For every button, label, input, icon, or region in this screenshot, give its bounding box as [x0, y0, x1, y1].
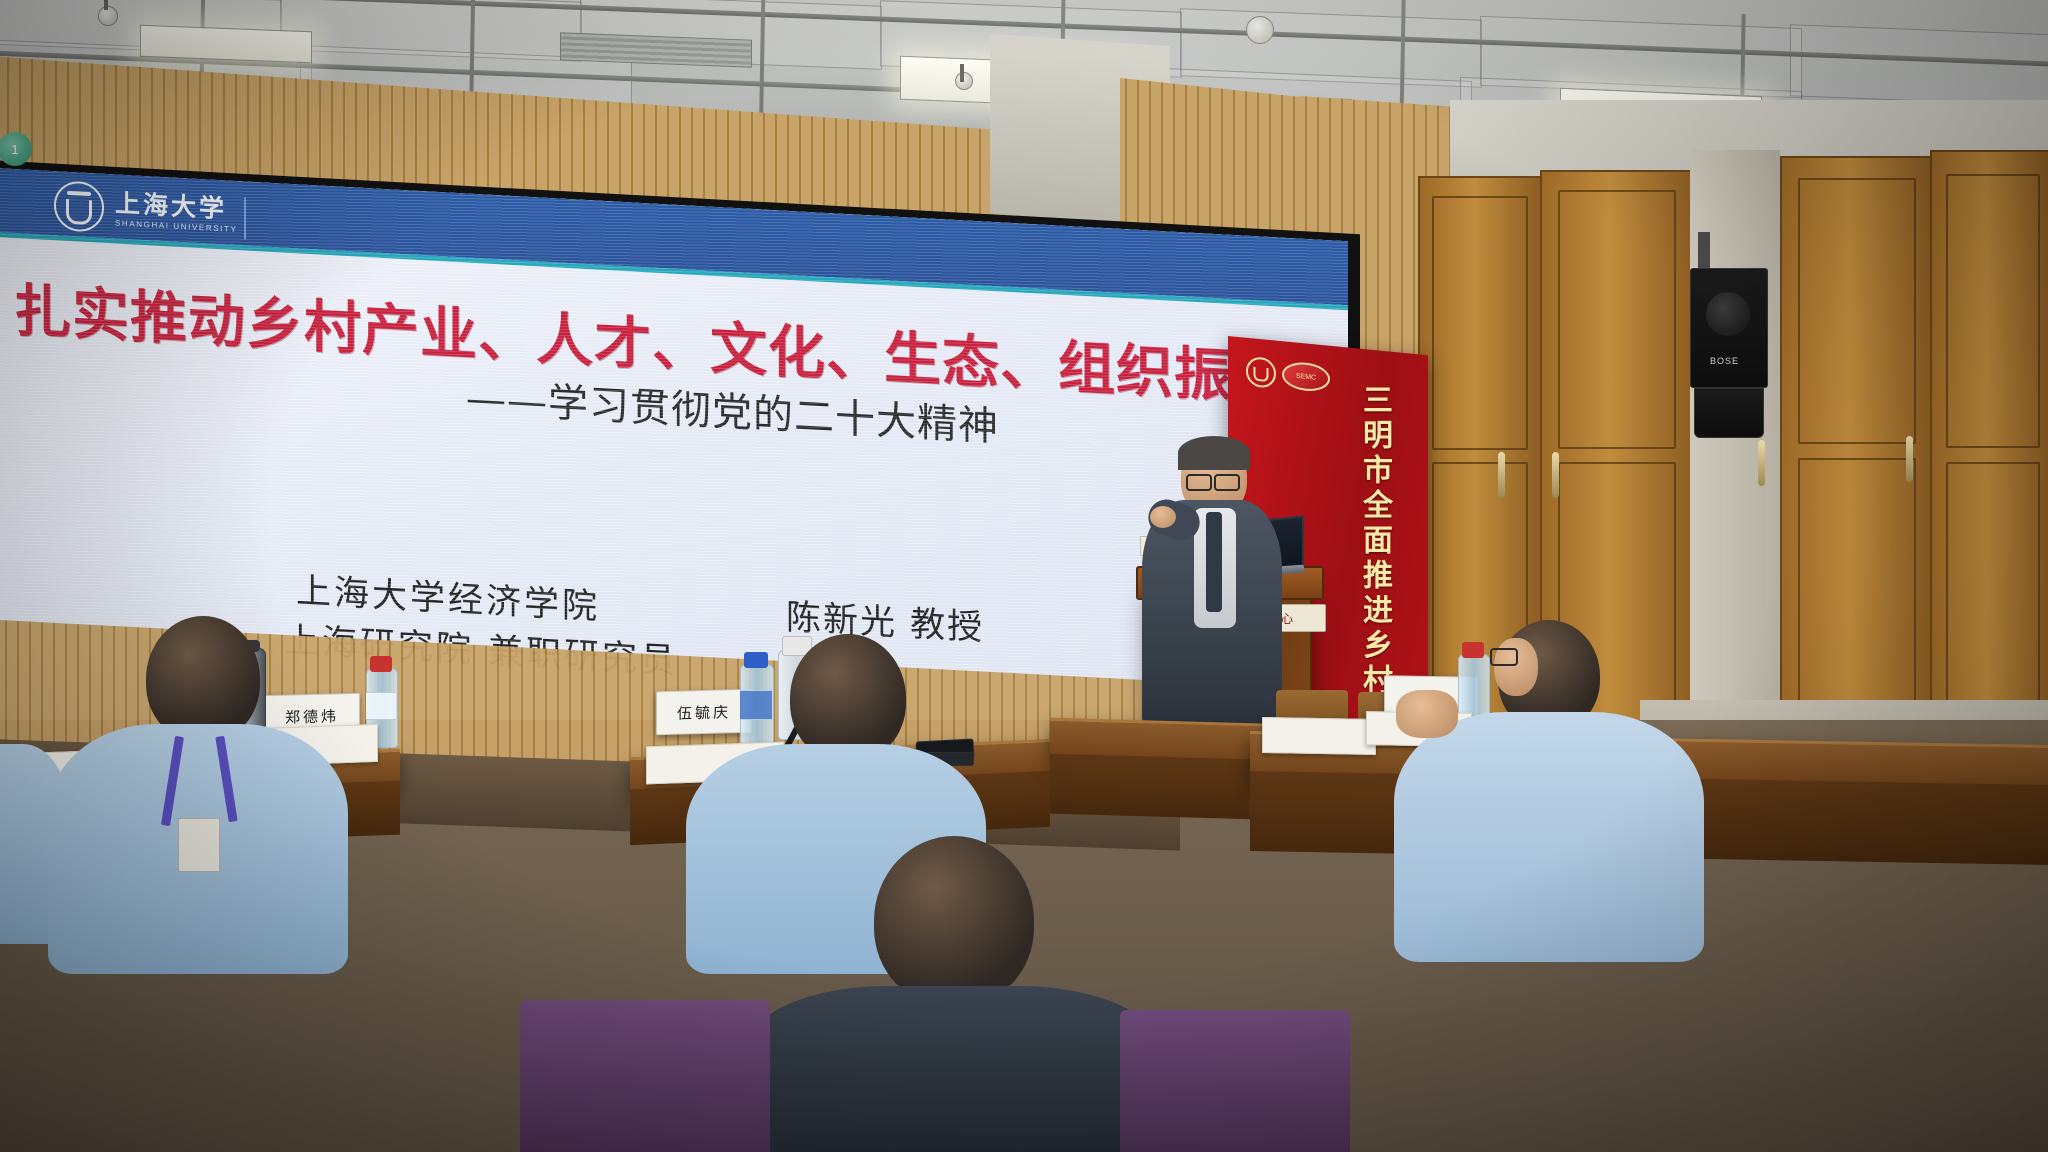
- door-inset: [1798, 178, 1916, 444]
- speaker-glasses-left: [1186, 474, 1212, 491]
- bottle-label: [740, 690, 772, 720]
- speaker-hair: [1178, 436, 1250, 470]
- door-inset: [1558, 190, 1676, 449]
- ceiling-sensor: [955, 72, 973, 90]
- nameplate-1-text: 郑德炜: [285, 705, 339, 727]
- banner-badge-icon: SEMC: [1282, 360, 1330, 393]
- nameplate-2: 伍毓庆: [656, 689, 752, 736]
- bottle-cap: [370, 656, 392, 672]
- ceiling-tile: [1790, 24, 2048, 108]
- audience-person-face: [1494, 638, 1538, 696]
- door-handle[interactable]: [1758, 440, 1765, 486]
- wall-speaker-base: [1694, 388, 1764, 438]
- banner-crest-icon: [1246, 356, 1276, 389]
- bottle-cap: [744, 652, 768, 668]
- speaker-tie: [1206, 512, 1222, 612]
- photo-scene: BOSE 上海大学 SHANGHAI UNIVERSITY 扎实推动乡村产业、人…: [0, 0, 2048, 1152]
- door-inset: [1946, 462, 2040, 740]
- university-crest-icon: [54, 180, 104, 233]
- audience-glasses: [1490, 648, 1518, 666]
- door-inset: [1798, 458, 1916, 730]
- door-inset: [1432, 196, 1528, 450]
- foreground-person-body: [748, 986, 1158, 1152]
- audience-person-head: [790, 634, 906, 762]
- door-handle[interactable]: [1906, 436, 1913, 482]
- document-paper[interactable]: [1262, 717, 1376, 755]
- chair-back: [1120, 1010, 1350, 1152]
- audience-person-body: [1394, 712, 1704, 962]
- ceiling-sensor-stem: [104, 0, 108, 10]
- chair-back: [520, 1000, 770, 1152]
- badge-card: [178, 818, 220, 872]
- presenter-name: 陈新光 教授: [786, 589, 984, 651]
- logo-divider: [244, 197, 246, 239]
- logo-chinese-name: 上海大学: [115, 190, 237, 222]
- shanghai-university-logo: 上海大学 SHANGHAI UNIVERSITY: [54, 180, 237, 240]
- door-handle[interactable]: [1498, 452, 1505, 498]
- door-handle[interactable]: [1552, 452, 1559, 498]
- audience-person-hand: [1396, 690, 1458, 738]
- door-inset: [1946, 174, 2040, 448]
- bottle-label: [366, 692, 396, 720]
- nameplate-2-text: 伍毓庆: [677, 701, 731, 724]
- speaker-glasses-right: [1214, 474, 1240, 491]
- ceiling-sensor-stem: [960, 64, 964, 82]
- speaker-hand: [1150, 506, 1176, 528]
- ceiling-sensor: [98, 6, 118, 26]
- bottle-cap: [1462, 642, 1484, 658]
- ceiling-speaker: [1246, 16, 1274, 44]
- foreground-person-head: [874, 836, 1034, 1006]
- ceiling-light: [140, 25, 312, 64]
- speaker-brand-label: BOSE: [1710, 356, 1739, 366]
- banner-text-col-1: 三明市全面推进乡村振兴专题培训班: [1352, 384, 1396, 704]
- speaker-cone-icon: [1706, 292, 1750, 336]
